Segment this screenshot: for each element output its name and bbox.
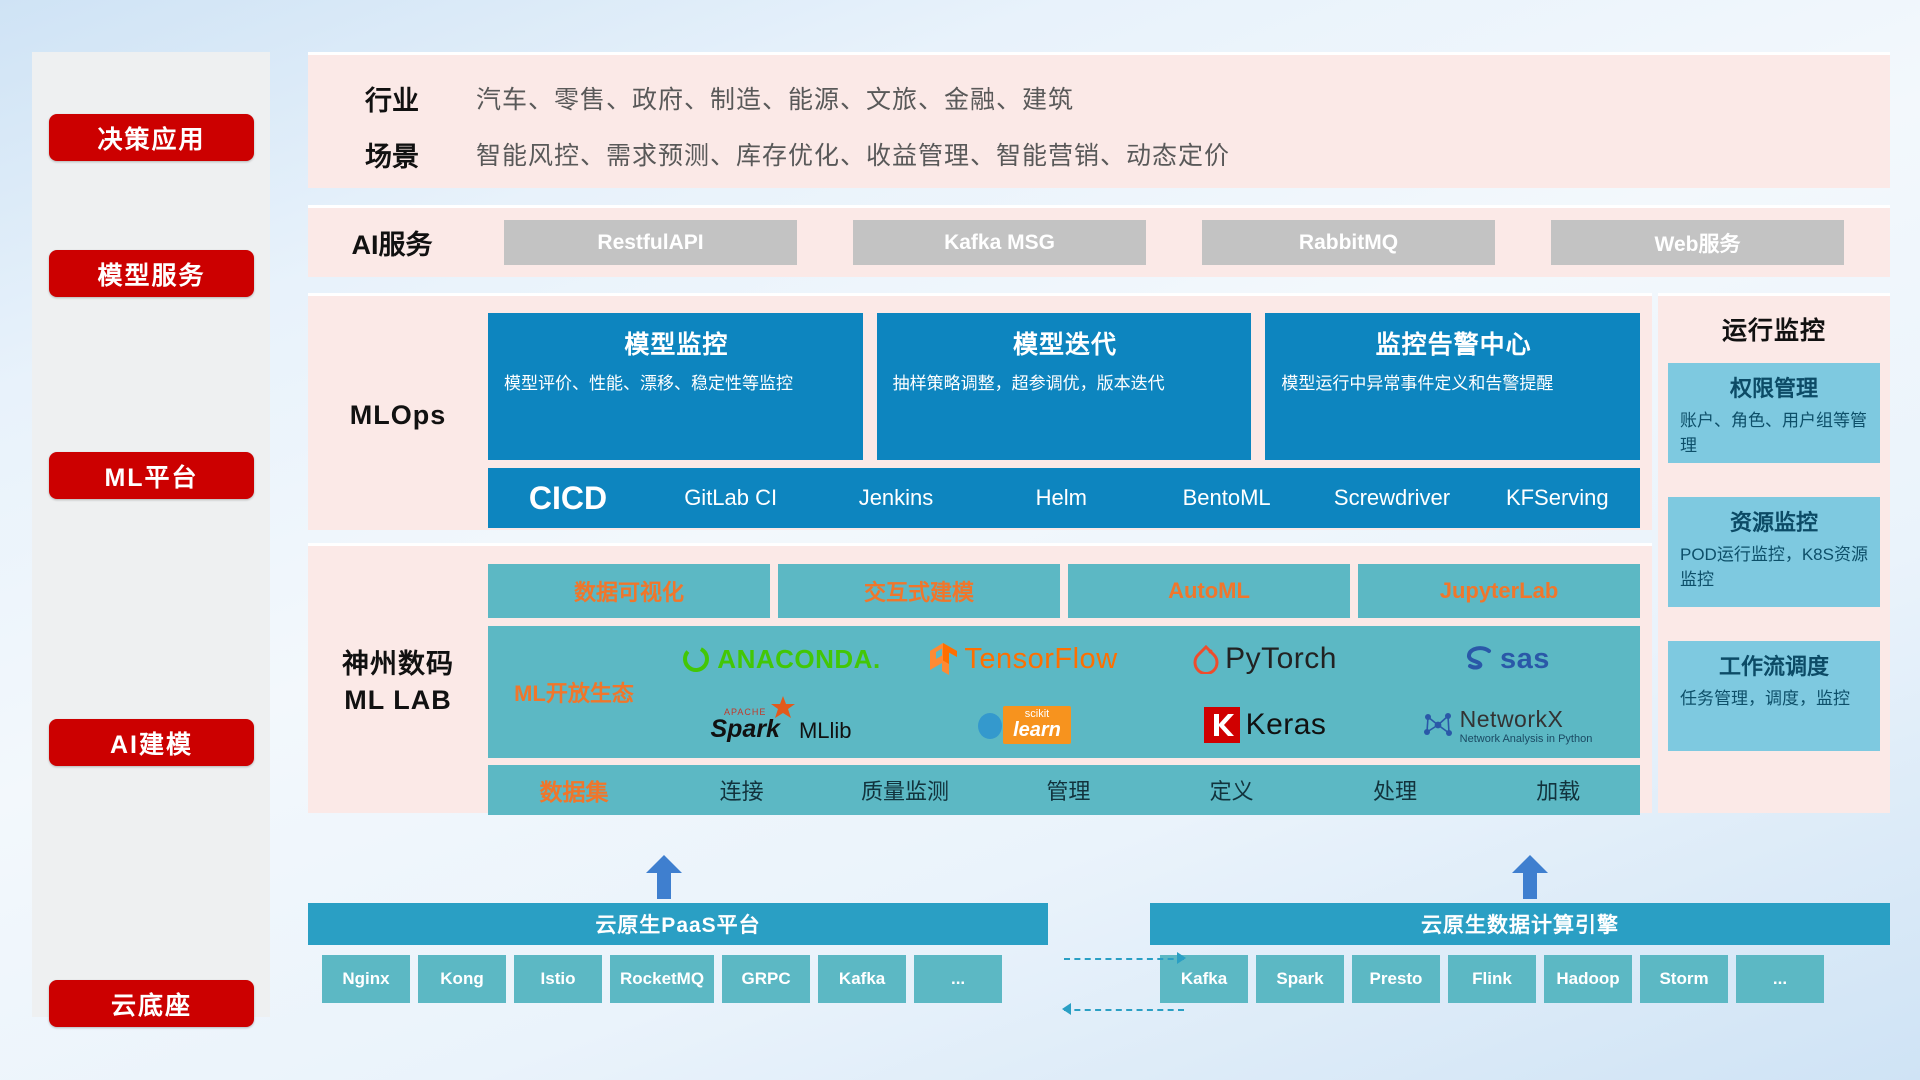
mlops-card-model-monitoring[interactable]: 模型监控 模型评价、性能、漂移、稳定性等监控 [488, 313, 863, 460]
compute-pill-presto[interactable]: Presto [1352, 955, 1440, 1003]
mlops-band: MLOps 模型监控 模型评价、性能、漂移、稳定性等监控 模型迭代 抽样策略调整… [308, 293, 1652, 530]
cicd-item-group: GitLab CI Jenkins Helm BentoML Screwdriv… [648, 481, 1640, 515]
service-chip-kafka-msg[interactable]: Kafka MSG [853, 220, 1146, 265]
compute-pill-group: Kafka Spark Presto Flink Hadoop Storm ..… [1160, 955, 1824, 1003]
rail-item-ml-platform[interactable]: ML平台 [49, 452, 254, 499]
rail-label: 云底座 [111, 986, 192, 1022]
scenario-label: 场景 [308, 135, 476, 174]
cicd-item-screwdriver[interactable]: Screwdriver [1309, 481, 1474, 515]
card-desc: 模型运行中异常事件定义和告警提醒 [1281, 372, 1626, 397]
dashed-arrow-right [1064, 952, 1184, 954]
tensorflow-logo: TensorFlow [928, 642, 1117, 676]
lab-tab-group: 数据可视化 交互式建模 AutoML JupyterLab [488, 564, 1640, 618]
paas-pill-kong[interactable]: Kong [418, 955, 506, 1003]
rail-item-ai-modeling[interactable]: AI建模 [49, 719, 254, 766]
keras-icon [1204, 707, 1240, 743]
rail-item-decision-app[interactable]: 决策应用 [49, 114, 254, 161]
dataset-item-group: 连接 质量监测 管理 定义 处理 加载 [660, 774, 1640, 806]
tensorflow-icon [928, 642, 958, 676]
dataset-item-define[interactable]: 定义 [1150, 774, 1313, 806]
monitor-card-workflow[interactable]: 工作流调度 任务管理，调度，监控 [1668, 641, 1880, 751]
paas-pill-kafka[interactable]: Kafka [818, 955, 906, 1003]
rail-label: 模型服务 [97, 256, 205, 292]
sas-logo: sas [1464, 643, 1550, 676]
rail-label: ML平台 [104, 458, 198, 494]
ai-service-band: AI服务 RestfulAPI Kafka MSG RabbitMQ Web服务 [308, 205, 1890, 277]
mllib-wordmark: MLlib [799, 718, 852, 744]
cicd-title: CICD [488, 480, 648, 517]
compute-pill-flink[interactable]: Flink [1448, 955, 1536, 1003]
cicd-item-jenkins[interactable]: Jenkins [813, 481, 978, 515]
industry-row: 行业 汽车、零售、政府、制造、能源、文旅、金融、建筑 [308, 71, 1890, 125]
rail-label: 决策应用 [97, 120, 205, 156]
cicd-item-bentoml[interactable]: BentoML [1144, 481, 1309, 515]
keras-logo: Keras [1204, 707, 1327, 743]
scenario-row: 场景 智能风控、需求预测、库存优化、收益管理、智能营销、动态定价 [308, 127, 1890, 181]
mlops-card-alert-center[interactable]: 监控告警中心 模型运行中异常事件定义和告警提醒 [1265, 313, 1640, 460]
pytorch-logo: PyTorch [1193, 642, 1337, 676]
spark-mllib-logo: APACHE Spark MLlib [710, 707, 851, 744]
rail-label: AI建模 [110, 725, 193, 761]
cicd-item-kfserving[interactable]: KFServing [1475, 481, 1640, 515]
cicd-item-gitlab-ci[interactable]: GitLab CI [648, 481, 813, 515]
dataset-item-load[interactable]: 加载 [1477, 774, 1640, 806]
compute-pill-kafka[interactable]: Kafka [1160, 955, 1248, 1003]
monitor-panel-title: 运行监控 [1658, 296, 1890, 347]
paas-pill-group: Nginx Kong Istio RocketMQ GRPC Kafka ... [322, 955, 1002, 1003]
ml-ecosystem-label: ML开放生态 [488, 676, 660, 708]
service-chip-restfulapi[interactable]: RestfulAPI [504, 220, 797, 265]
architecture-diagram: 决策应用 模型服务 ML平台 AI建模 云底座 行业 汽车、零售、政府、制造、能… [0, 0, 1920, 1080]
card-desc: 账户、角色、用户组等管理 [1680, 409, 1868, 458]
mlops-label: MLOps [308, 400, 488, 431]
scikit-learn-logo: scikit learn [975, 706, 1071, 744]
ml-lab-label: 神州数码 ML LAB [308, 646, 488, 719]
service-chip-web-service[interactable]: Web服务 [1551, 220, 1844, 265]
dataset-item-connect[interactable]: 连接 [660, 774, 823, 806]
ml-lab-label-line2: ML LAB [308, 682, 488, 718]
card-title: 模型监控 [504, 325, 849, 361]
paas-pill-rocketmq[interactable]: RocketMQ [610, 955, 714, 1003]
compute-pill-spark[interactable]: Spark [1256, 955, 1344, 1003]
cicd-bar: CICD GitLab CI Jenkins Helm BentoML Scre… [488, 468, 1640, 528]
sas-wordmark: sas [1500, 643, 1550, 676]
ml-lab-label-line1: 神州数码 [308, 646, 488, 682]
networkx-tagline: Network Analysis in Python [1460, 733, 1593, 745]
paas-pill-grpc[interactable]: GRPC [722, 955, 810, 1003]
anaconda-wordmark: ANACONDA. [717, 644, 880, 675]
lab-tab-data-visualization[interactable]: 数据可视化 [488, 564, 770, 618]
networkx-wordmark: NetworkX [1460, 706, 1593, 733]
sas-icon [1464, 645, 1494, 673]
dataset-item-quality-monitor[interactable]: 质量监测 [823, 774, 986, 806]
mlops-card-model-iteration[interactable]: 模型迭代 抽样策略调整，超参调优，版本迭代 [877, 313, 1252, 460]
paas-pill-more[interactable]: ... [914, 955, 1002, 1003]
dataset-title: 数据集 [488, 773, 660, 807]
anaconda-logo: ANACONDA. [681, 644, 880, 675]
lab-tab-jupyterlab[interactable]: JupyterLab [1358, 564, 1640, 618]
scenario-values: 智能风控、需求预测、库存优化、收益管理、智能营销、动态定价 [476, 136, 1230, 172]
card-title: 权限管理 [1680, 371, 1868, 403]
pytorch-icon [1193, 644, 1219, 674]
ml-ecosystem-row: ML开放生态 ANACONDA. TensorFlow [488, 626, 1640, 758]
paas-platform-bar[interactable]: 云原生PaaS平台 [308, 903, 1048, 945]
cicd-item-helm[interactable]: Helm [979, 481, 1144, 515]
pytorch-wordmark: PyTorch [1225, 642, 1337, 676]
card-desc: 抽样策略调整，超参调优，版本迭代 [893, 372, 1238, 397]
card-title: 工作流调度 [1680, 649, 1868, 681]
ml-lab-band: 神州数码 ML LAB 数据可视化 交互式建模 AutoML JupyterLa… [308, 543, 1652, 813]
up-arrow-compute-engine [1512, 855, 1548, 899]
scikit-learn-badge: scikit learn [1003, 706, 1071, 744]
layer-rail: 决策应用 模型服务 ML平台 AI建模 云底座 [32, 52, 270, 1017]
paas-pill-nginx[interactable]: Nginx [322, 955, 410, 1003]
spark-star-icon [770, 695, 796, 721]
card-desc: POD运行监控，K8S资源监控 [1680, 543, 1868, 592]
rail-item-cloud-foundation[interactable]: 云底座 [49, 980, 254, 1027]
ai-service-label: AI服务 [308, 223, 476, 262]
application-band: 行业 汽车、零售、政府、制造、能源、文旅、金融、建筑 场景 智能风控、需求预测、… [308, 52, 1890, 188]
tensorflow-wordmark: TensorFlow [964, 643, 1117, 676]
service-chip-rabbitmq[interactable]: RabbitMQ [1202, 220, 1495, 265]
card-desc: 任务管理，调度，监控 [1680, 687, 1868, 712]
card-title: 资源监控 [1680, 505, 1868, 537]
networkx-logo: NetworkX Network Analysis in Python [1422, 706, 1593, 745]
up-arrow-paas [646, 855, 682, 899]
rail-item-model-service[interactable]: 模型服务 [49, 250, 254, 297]
lab-tab-automl[interactable]: AutoML [1068, 564, 1350, 618]
industry-values: 汽车、零售、政府、制造、能源、文旅、金融、建筑 [476, 80, 1074, 116]
anaconda-icon [681, 644, 711, 674]
card-title: 模型迭代 [893, 325, 1238, 361]
ai-service-chip-group: RestfulAPI Kafka MSG RabbitMQ Web服务 [476, 220, 1890, 265]
compute-pill-storm[interactable]: Storm [1640, 955, 1728, 1003]
compute-pill-hadoop[interactable]: Hadoop [1544, 955, 1632, 1003]
lab-tab-interactive-modeling[interactable]: 交互式建模 [778, 564, 1060, 618]
mlops-card-group: 模型监控 模型评价、性能、漂移、稳定性等监控 模型迭代 抽样策略调整，超参调优，… [488, 313, 1640, 460]
paas-pill-istio[interactable]: Istio [514, 955, 602, 1003]
data-compute-engine-bar[interactable]: 云原生数据计算引擎 [1150, 903, 1890, 945]
monitor-card-resource[interactable]: 资源监控 POD运行监控，K8S资源监控 [1668, 497, 1880, 607]
networkx-icon [1422, 710, 1454, 740]
card-desc: 模型评价、性能、漂移、稳定性等监控 [504, 372, 849, 397]
dashed-arrow-left [1064, 1003, 1184, 1005]
card-title: 监控告警中心 [1281, 325, 1626, 361]
runtime-monitor-panel: 运行监控 权限管理 账户、角色、用户组等管理 资源监控 POD运行监控，K8S资… [1658, 293, 1890, 813]
ml-ecosystem-logo-grid: ANACONDA. TensorFlow PyTorch [660, 626, 1640, 758]
dataset-item-process[interactable]: 处理 [1313, 774, 1476, 806]
keras-wordmark: Keras [1246, 708, 1327, 742]
monitor-card-permission[interactable]: 权限管理 账户、角色、用户组等管理 [1668, 363, 1880, 463]
dataset-item-manage[interactable]: 管理 [987, 774, 1150, 806]
industry-label: 行业 [308, 79, 476, 118]
dataset-row: 数据集 连接 质量监测 管理 定义 处理 加载 [488, 765, 1640, 815]
learn-text: learn [1013, 720, 1061, 740]
compute-pill-more[interactable]: ... [1736, 955, 1824, 1003]
